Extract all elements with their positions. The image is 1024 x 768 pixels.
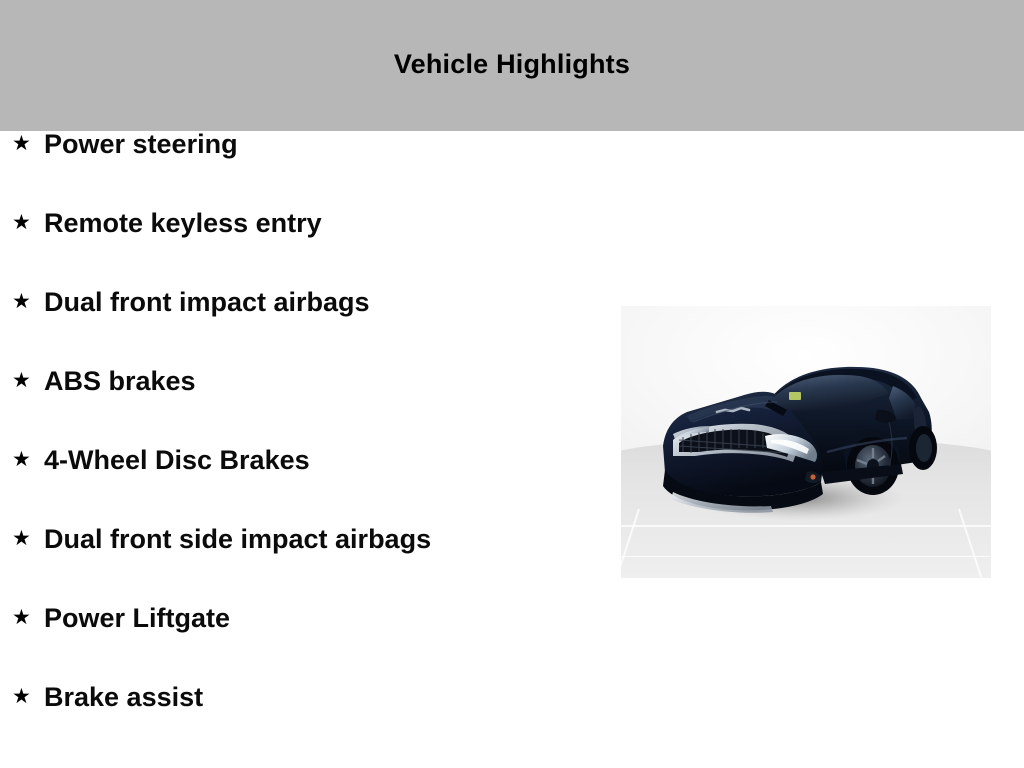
star-bullet-icon: ★ — [12, 212, 44, 233]
highlight-label: Dual front side impact airbags — [44, 526, 431, 553]
star-bullet-icon: ★ — [12, 686, 44, 707]
page-title: Vehicle Highlights — [394, 51, 630, 80]
highlight-label: 4-Wheel Disc Brakes — [44, 447, 310, 474]
vehicle-highlights-page: Vehicle Highlights ★ Power steering ★ Re… — [0, 0, 1024, 768]
highlight-label: Remote keyless entry — [44, 210, 322, 237]
list-item: ★ Power steering — [0, 131, 600, 210]
star-bullet-icon: ★ — [12, 449, 44, 470]
highlight-label: Power steering — [44, 131, 238, 158]
list-item: ★ Dual front impact airbags — [0, 289, 600, 368]
star-bullet-icon: ★ — [12, 607, 44, 628]
star-bullet-icon: ★ — [12, 528, 44, 549]
page-bottom-spacer — [0, 762, 1024, 768]
list-item: ★ Dual front side impact airbags — [0, 526, 600, 605]
vehicle-photo — [621, 306, 991, 578]
highlight-label: Dual front impact airbags — [44, 289, 370, 316]
vehicle-highlights-list: ★ Power steering ★ Remote keyless entry … — [0, 131, 600, 763]
suv-vehicle-illustration — [621, 306, 991, 578]
highlight-label: Brake assist — [44, 684, 203, 711]
page-header: Vehicle Highlights — [0, 0, 1024, 131]
highlight-label: ABS brakes — [44, 368, 196, 395]
star-bullet-icon: ★ — [12, 370, 44, 391]
list-item: ★ Brake assist — [0, 684, 600, 763]
star-bullet-icon: ★ — [12, 291, 44, 312]
list-item: ★ Power Liftgate — [0, 605, 600, 684]
star-bullet-icon: ★ — [12, 133, 44, 154]
list-item: ★ ABS brakes — [0, 368, 600, 447]
list-item: ★ 4-Wheel Disc Brakes — [0, 447, 600, 526]
list-item: ★ Remote keyless entry — [0, 210, 600, 289]
highlight-label: Power Liftgate — [44, 605, 230, 632]
